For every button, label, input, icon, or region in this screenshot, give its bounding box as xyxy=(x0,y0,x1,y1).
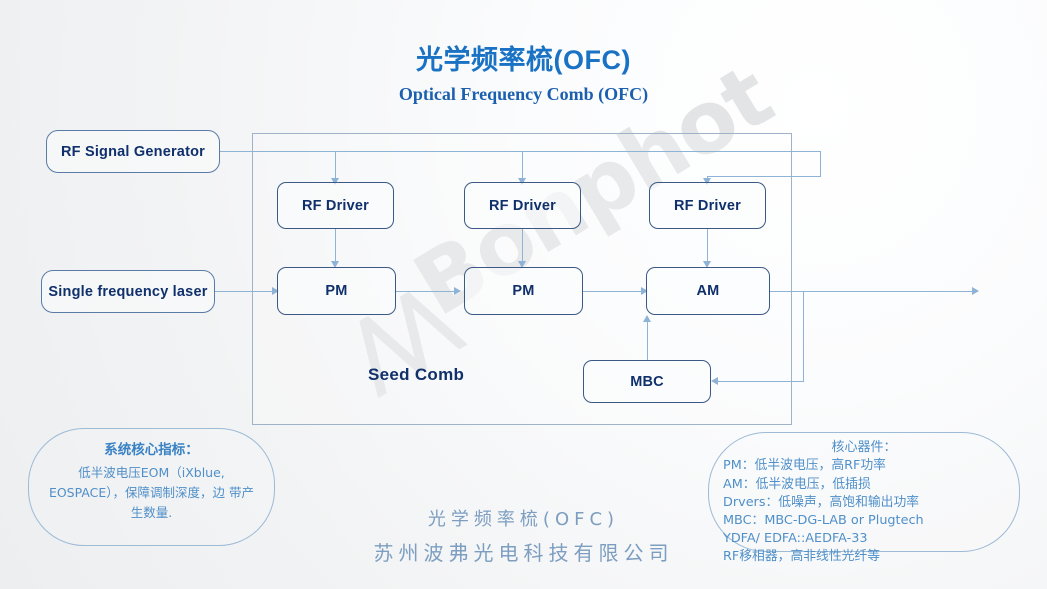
note-right-line-1: PM：低半波电压，高RF功率 xyxy=(723,457,1005,475)
pm2-to-am-line xyxy=(583,291,643,292)
note-right-line-2: AM：低半波电压，低插损 xyxy=(723,476,1005,494)
node-mbc-label: MBC xyxy=(630,374,664,390)
am-output-line xyxy=(770,291,978,292)
am-to-mbc-feedback-vertical xyxy=(803,291,804,382)
mbc-to-am-arrow-icon xyxy=(643,315,651,322)
node-am-label: AM xyxy=(697,283,720,299)
am-output-arrow-icon xyxy=(972,287,979,295)
note-left-heading: 系统核心指标： xyxy=(45,440,258,461)
node-am[interactable]: AM xyxy=(646,267,770,315)
driver1-to-pm1-line xyxy=(335,229,336,263)
node-single-frequency-laser-label: Single frequency laser xyxy=(48,284,207,300)
rf-bus-drop-1 xyxy=(335,151,336,180)
pm1-to-pm2-line xyxy=(396,291,456,292)
mbc-to-am-line xyxy=(647,321,648,361)
node-rf-driver-1-label: RF Driver xyxy=(302,198,369,214)
page-title-english: Optical Frequency Comb (OFC) xyxy=(0,84,1047,105)
rf-bus-drop-right xyxy=(820,151,821,177)
diagram-canvas: /\/\ Bonphot 光学频率梳(OFC) Optical Frequenc… xyxy=(0,0,1047,589)
note-left-line-1: 低半波电压EOM（iXblue, xyxy=(78,465,225,480)
rf-bus-return-3 xyxy=(707,176,821,177)
node-rf-driver-3[interactable]: RF Driver xyxy=(649,182,766,229)
node-rf-driver-2-label: RF Driver xyxy=(489,198,556,214)
seed-comb-label: Seed Comb xyxy=(368,365,464,385)
node-pm-1-label: PM xyxy=(325,283,347,299)
rf-bus-horizontal xyxy=(220,151,820,152)
laser-to-pm1-line xyxy=(215,291,275,292)
am-to-mbc-feedback-horizontal xyxy=(718,381,804,382)
footer-company-name: 苏州波弗光电科技有限公司 xyxy=(0,537,1047,566)
node-rf-driver-3-label: RF Driver xyxy=(674,198,741,214)
node-rf-driver-2[interactable]: RF Driver xyxy=(464,182,581,229)
node-pm-2-label: PM xyxy=(512,283,534,299)
rf-bus-drop-2 xyxy=(522,151,523,180)
driver2-to-pm2-line xyxy=(522,229,523,263)
note-right-heading: 核心器件： xyxy=(723,439,1005,457)
node-pm-2[interactable]: PM xyxy=(464,267,583,315)
note-left-line-2: EOSPACE），保障调制深度，边 xyxy=(49,485,225,500)
mbc-feedback-arrow-icon xyxy=(711,377,718,385)
node-mbc[interactable]: MBC xyxy=(583,360,711,403)
footer-product-name: 光学频率梳(OFC) xyxy=(0,505,1047,531)
node-rf-signal-generator-label: RF Signal Generator xyxy=(61,144,205,160)
pm1-to-pm2-arrow-icon xyxy=(454,287,461,295)
note-core-components: 核心器件： PM：低半波电压，高RF功率 AM：低半波电压，低插损 Drvers… xyxy=(708,432,1020,552)
node-rf-driver-1[interactable]: RF Driver xyxy=(277,182,394,229)
page-title-chinese: 光学频率梳(OFC) xyxy=(0,38,1047,77)
node-rf-signal-generator[interactable]: RF Signal Generator xyxy=(46,130,220,173)
node-pm-1[interactable]: PM xyxy=(277,267,396,315)
driver3-to-am-line xyxy=(707,229,708,263)
node-single-frequency-laser[interactable]: Single frequency laser xyxy=(41,270,215,313)
